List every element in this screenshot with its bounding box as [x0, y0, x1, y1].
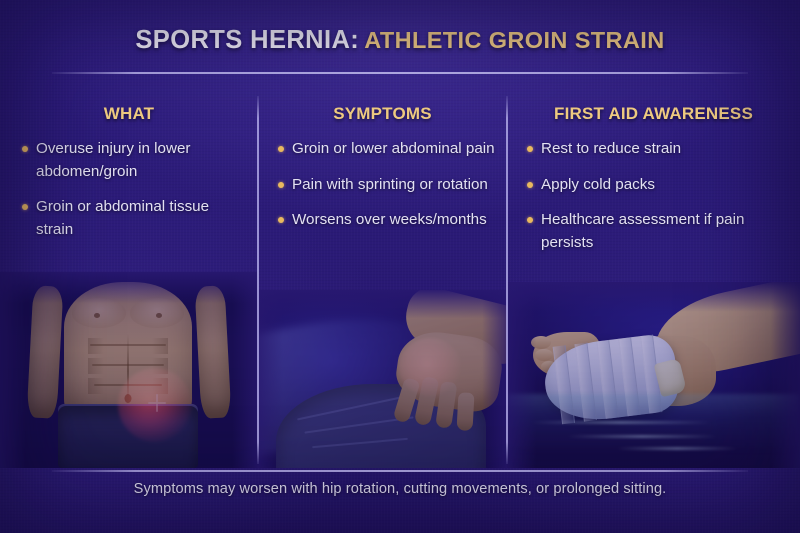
foot-color-tint [507, 282, 800, 468]
column-divider-1 [257, 96, 259, 464]
hand-scene [258, 290, 507, 468]
bullet-list-first-aid: Rest to reduce strain Apply cold packs H… [507, 138, 800, 254]
list-item: Pain with sprinting or rotation [278, 174, 497, 197]
column-heading-symptoms: SYMPTOMS [258, 96, 507, 124]
title-accent-text: ATHLETIC GROIN STRAIN [364, 27, 664, 53]
column-heading-what: WHAT [0, 96, 258, 124]
list-item: Worsens over weeks/months [278, 209, 497, 232]
columns-container: WHAT Overuse injury in lower abdomen/gro… [0, 96, 800, 468]
list-item: Groin or lower abdominal pain [278, 138, 497, 161]
foot-scene [507, 282, 800, 468]
column-divider-2 [506, 96, 508, 464]
bullet-list-what: Overuse injury in lower abdomen/groin Gr… [0, 138, 258, 241]
footer-note: Symptoms may worsen with hip rotation, c… [0, 481, 800, 497]
image-bandaged-foot [507, 282, 800, 468]
list-item: Rest to reduce strain [527, 138, 790, 161]
column-symptoms: SYMPTOMS Groin or lower abdominal pain P… [258, 96, 507, 468]
torso-scene [0, 272, 258, 468]
footer-divider-rule [52, 470, 748, 472]
title-block: SPORTS HERNIA:ATHLETIC GROIN STRAIN [0, 26, 800, 55]
column-what: WHAT Overuse injury in lower abdomen/gro… [0, 96, 258, 468]
page-title: SPORTS HERNIA:ATHLETIC GROIN STRAIN [0, 26, 800, 55]
hand-color-tint [258, 290, 507, 468]
column-heading-first-aid: FIRST AID AWARENESS [507, 96, 800, 124]
bullet-list-symptoms: Groin or lower abdominal pain Pain with … [258, 138, 507, 232]
list-item: Apply cold packs [527, 174, 790, 197]
list-item: Healthcare assessment if pain persists [527, 209, 790, 254]
image-male-torso [0, 272, 258, 468]
torso-color-tint [0, 272, 258, 468]
title-main-text: SPORTS HERNIA: [135, 26, 359, 54]
title-divider-rule [52, 72, 748, 74]
list-item: Groin or abdominal tissue strain [22, 196, 248, 241]
image-hand-on-groin [258, 290, 507, 468]
infographic-poster: SPORTS HERNIA:ATHLETIC GROIN STRAIN WHAT… [0, 0, 800, 533]
column-first-aid: FIRST AID AWARENESS Rest to reduce strai… [507, 96, 800, 468]
list-item: Overuse injury in lower abdomen/groin [22, 138, 248, 183]
